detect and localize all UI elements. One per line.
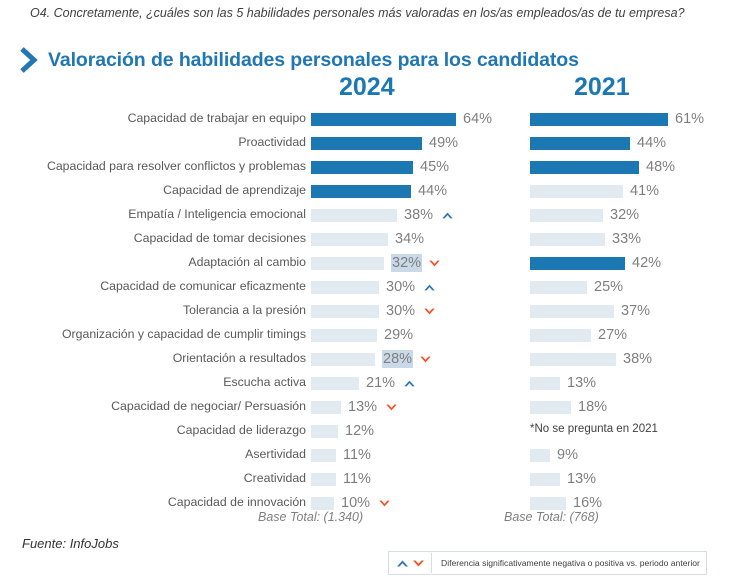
bar-value-label: 42%	[632, 254, 661, 272]
bar	[311, 161, 413, 174]
bar	[311, 305, 379, 318]
chevron-down-icon	[411, 556, 426, 571]
chart-row: Tolerancia a la presión30%37%	[0, 300, 741, 324]
category-label: Empatía / Inteligencia emocional	[6, 207, 306, 221]
bar-value-label: 29%	[384, 326, 413, 344]
page-title-label: Valoración de habilidades personales par…	[48, 49, 579, 72]
chart-row: Capacidad de negociar/ Persuasión13%18%	[0, 396, 741, 420]
category-label: Capacidad para resolver conflictos y pro…	[6, 159, 306, 173]
bar-value-label: 21%	[366, 374, 395, 392]
bar-value-label: 30%	[386, 302, 415, 320]
bar	[311, 353, 375, 366]
chart-row: Capacidad de liderazgo12%*No se pregunta…	[0, 420, 741, 444]
chevron-up-icon	[403, 377, 416, 390]
chevron-down-icon	[423, 305, 436, 318]
no-data-note: *No se pregunta en 2021	[530, 423, 658, 435]
chart-row: Asertividad11%9%	[0, 444, 741, 468]
chart-row: Organización y capacidad de cumplir timi…	[0, 324, 741, 348]
bar	[530, 161, 639, 174]
category-label: Asertividad	[6, 447, 306, 461]
bar-value-label: 64%	[463, 110, 492, 128]
bar	[530, 497, 566, 510]
bar	[530, 305, 614, 318]
bar	[530, 377, 560, 390]
chevron-down-icon	[419, 353, 432, 366]
bar-value-label: 12%	[345, 422, 374, 440]
bar	[530, 281, 587, 294]
category-label: Creatividad	[6, 471, 306, 485]
bar	[530, 401, 571, 414]
bar	[311, 473, 336, 486]
bar-value-label: 13%	[348, 398, 377, 416]
bar	[530, 113, 668, 126]
significance-marker-up	[403, 377, 416, 390]
bar	[311, 497, 334, 510]
bar-chart: Capacidad de trabajar en equipo64%61%Pro…	[0, 108, 741, 516]
bar-cell: 11%	[311, 444, 526, 468]
bar-value-label: 27%	[598, 326, 627, 344]
bar	[530, 137, 630, 150]
bar	[530, 473, 560, 486]
bar-cell: 38%	[530, 348, 741, 372]
bar-cell: 33%	[530, 228, 741, 252]
bar-cell-empty: *No se pregunta en 2021	[530, 420, 741, 444]
bar-cell: 13%	[530, 468, 741, 492]
chevron-up-icon	[395, 556, 410, 571]
bar-cell: 12%	[311, 420, 526, 444]
page-title: Valoración de habilidades personales par…	[20, 47, 579, 73]
bar-cell: 28%	[311, 348, 526, 372]
category-label: Escucha activa	[6, 375, 306, 389]
chevron-down-icon	[378, 497, 391, 510]
question-text: O4. Concretamente, ¿cuáles son las 5 hab…	[30, 4, 720, 23]
chevron-down-icon	[385, 401, 398, 414]
legend-box: Diferencia significativamente negativa o…	[388, 551, 707, 575]
bar	[311, 329, 377, 342]
bar-cell: 13%	[311, 396, 526, 420]
category-label: Orientación a resultados	[6, 351, 306, 365]
bar-cell: 38%	[311, 204, 526, 228]
chart-row: Orientación a resultados28%38%	[0, 348, 741, 372]
bar-cell: 42%	[530, 252, 741, 276]
chart-row: Creatividad11%13%	[0, 468, 741, 492]
bar-value-label: 45%	[420, 158, 449, 176]
bar	[311, 137, 422, 150]
category-label: Capacidad de innovación	[6, 495, 306, 509]
bar-value-label: 38%	[404, 206, 433, 224]
legend-icons	[389, 553, 432, 573]
category-label: Tolerancia a la presión	[6, 303, 306, 317]
bar-value-label: 37%	[621, 302, 650, 320]
bar	[311, 233, 388, 246]
bar-value-label: 61%	[675, 110, 704, 128]
bar	[530, 233, 605, 246]
bar-cell: 34%	[311, 228, 526, 252]
source-note: Fuente: InfoJobs	[22, 536, 119, 551]
chevron-up-icon	[423, 281, 436, 294]
bar	[311, 209, 397, 222]
chevron-up-icon	[441, 209, 454, 222]
bar-cell: 25%	[530, 276, 741, 300]
chevron-down-icon	[428, 257, 441, 270]
base-total-2021: Base Total: (768)	[504, 510, 599, 524]
bar-value-label: 30%	[386, 278, 415, 296]
significance-marker-down	[378, 497, 391, 510]
bar-value-label: 11%	[343, 446, 371, 464]
bar	[530, 353, 616, 366]
bar-value-label: 11%	[343, 470, 371, 488]
bar-cell: 21%	[311, 372, 526, 396]
bar	[311, 185, 411, 198]
bar-value-label: 13%	[567, 374, 596, 392]
bar-cell: 41%	[530, 180, 741, 204]
chart-row: Escucha activa21%13%	[0, 372, 741, 396]
bar-value-label: 44%	[418, 182, 447, 200]
significance-marker-down	[428, 257, 441, 270]
bar-cell: 27%	[530, 324, 741, 348]
column-header-2024: 2024	[339, 73, 395, 102]
bar-value-label: 33%	[612, 230, 641, 248]
bar	[530, 185, 623, 198]
bar	[311, 401, 341, 414]
bar-cell: 44%	[311, 180, 526, 204]
chart-row: Adaptación al cambio32%42%	[0, 252, 741, 276]
chevron-right-icon	[20, 47, 39, 73]
chart-row: Empatía / Inteligencia emocional38%32%	[0, 204, 741, 228]
chart-row: Capacidad de tomar decisiones34%33%	[0, 228, 741, 252]
bar	[530, 209, 603, 222]
bar-cell: 32%	[530, 204, 741, 228]
bar-value-label: 44%	[637, 134, 666, 152]
category-label: Capacidad de comunicar eficazmente	[6, 279, 306, 293]
bar-value-label: 41%	[630, 182, 659, 200]
bar-cell: 48%	[530, 156, 741, 180]
bar	[311, 281, 379, 294]
bar-cell: 64%	[311, 108, 526, 132]
bar-value-label: 18%	[578, 398, 607, 416]
bar-cell: 49%	[311, 132, 526, 156]
significance-marker-up	[423, 281, 436, 294]
category-label: Capacidad de liderazgo	[6, 423, 306, 437]
bar-cell: 45%	[311, 156, 526, 180]
bar	[311, 449, 336, 462]
significance-marker-down	[385, 401, 398, 414]
bar-cell: 13%	[530, 372, 741, 396]
legend-label: Diferencia significativamente negativa o…	[432, 558, 700, 568]
bar-value-label: 32%	[391, 254, 422, 272]
bar-value-label: 13%	[567, 470, 596, 488]
column-header-2021: 2021	[574, 73, 630, 102]
bar-value-label: 49%	[429, 134, 458, 152]
bar-value-label: 48%	[646, 158, 675, 176]
bar	[530, 257, 625, 270]
bar-cell: 37%	[530, 300, 741, 324]
significance-marker-down	[419, 353, 432, 366]
bar-value-label: 38%	[623, 350, 652, 368]
bar-cell: 44%	[530, 132, 741, 156]
bar-cell: 9%	[530, 444, 741, 468]
bar-cell: 18%	[530, 396, 741, 420]
category-label: Capacidad de tomar decisiones	[6, 231, 306, 245]
bar	[311, 113, 456, 126]
category-label: Capacidad de negociar/ Persuasión	[6, 399, 306, 413]
chart-row: Capacidad de comunicar eficazmente30%25%	[0, 276, 741, 300]
bar	[311, 425, 338, 438]
significance-marker-up	[441, 209, 454, 222]
bar-value-label: 28%	[382, 350, 413, 368]
bar-cell: 11%	[311, 468, 526, 492]
chart-row: Capacidad para resolver conflictos y pro…	[0, 156, 741, 180]
bar-value-label: 25%	[594, 278, 623, 296]
bar	[311, 257, 384, 270]
category-label: Organización y capacidad de cumplir timi…	[6, 327, 306, 341]
chart-row: Capacidad de aprendizaje44%41%	[0, 180, 741, 204]
bar	[311, 377, 359, 390]
category-label: Capacidad de aprendizaje	[6, 183, 306, 197]
bar-cell: 29%	[311, 324, 526, 348]
bar	[530, 449, 550, 462]
bar-value-label: 32%	[610, 206, 639, 224]
chart-row: Capacidad de innovación10%16%	[0, 492, 741, 516]
chart-row: Capacidad de trabajar en equipo64%61%	[0, 108, 741, 132]
significance-marker-down	[423, 305, 436, 318]
bar-cell: 61%	[530, 108, 741, 132]
chart-row: Proactividad49%44%	[0, 132, 741, 156]
category-label: Adaptación al cambio	[6, 255, 306, 269]
bar-value-label: 34%	[395, 230, 424, 248]
bar-cell: 30%	[311, 300, 526, 324]
bar-cell: 32%	[311, 252, 526, 276]
category-label: Proactividad	[6, 135, 306, 149]
bar	[530, 329, 591, 342]
category-label: Capacidad de trabajar en equipo	[6, 111, 306, 125]
bar-cell: 30%	[311, 276, 526, 300]
base-total-2024: Base Total: (1.340)	[258, 510, 363, 524]
bar-value-label: 9%	[557, 446, 578, 464]
